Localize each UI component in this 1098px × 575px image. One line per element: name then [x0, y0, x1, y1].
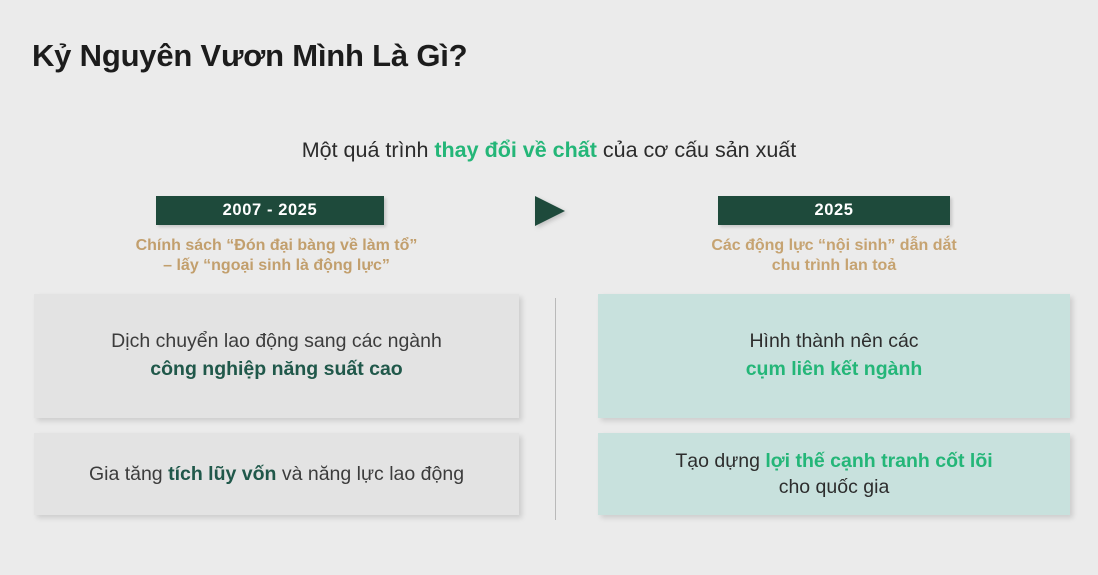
triangle-right-icon	[535, 196, 565, 226]
right-card-2-line-2: cho quốc gia	[779, 474, 890, 500]
right-column-caption: Các động lực “nội sinh” dẫn dắt chu trìn…	[598, 236, 1070, 277]
left-card-2-line-1: Gia tăng tích lũy vốn và năng lực lao độ…	[89, 461, 464, 487]
left-card-1-line-2: công nghiệp năng suất cao	[150, 356, 402, 384]
right-card-1-line-2: cụm liên kết ngành	[746, 356, 923, 384]
list-item[interactable]: Tạo dựng lợi thế cạnh tranh cốt lõi cho …	[598, 433, 1070, 515]
left-card-2-text-before: Gia tăng	[89, 463, 168, 485]
left-era-badge: 2007 - 2025	[156, 196, 384, 225]
page-title: Kỷ Nguyên Vươn Mình Là Gì?	[32, 38, 467, 74]
left-column-caption: Chính sách “Đón đại bàng về làm tổ” – lấ…	[34, 236, 519, 277]
list-item[interactable]: Gia tăng tích lũy vốn và năng lực lao độ…	[34, 433, 519, 515]
slide-canvas: Kỷ Nguyên Vươn Mình Là Gì? Một quá trình…	[0, 0, 1098, 575]
left-column: 2007 - 2025 Chính sách “Đón đại bàng về …	[34, 190, 519, 515]
card-spacer	[34, 418, 519, 433]
left-card-2-text-after: và năng lực lao động	[276, 463, 464, 485]
left-card-list: Dịch chuyển lao động sang các ngành công…	[34, 294, 519, 515]
list-item[interactable]: Hình thành nên các cụm liên kết ngành	[598, 294, 1070, 418]
card-spacer	[598, 418, 1070, 433]
right-column: 2025 Các động lực “nội sinh” dẫn dắt chu…	[598, 190, 1070, 515]
column-divider	[555, 298, 556, 520]
slide-subtitle: Một quá trình thay đổi về chất của cơ cấ…	[0, 138, 1098, 163]
right-card-1-line-1: Hình thành nên các	[749, 328, 918, 356]
right-card-2-text-before: Tạo dựng	[675, 450, 765, 472]
left-card-1-line-1: Dịch chuyển lao động sang các ngành	[111, 328, 442, 356]
subtitle-accent-text: thay đổi về chất	[434, 138, 597, 162]
list-item[interactable]: Dịch chuyển lao động sang các ngành công…	[34, 294, 519, 418]
right-card-list: Hình thành nên các cụm liên kết ngành Tạ…	[598, 294, 1070, 515]
subtitle-text-before: Một quá trình	[302, 138, 435, 162]
right-card-2-text-strong: lợi thế cạnh tranh cốt lõi	[765, 450, 992, 472]
left-card-2-text-strong: tích lũy vốn	[168, 463, 276, 485]
subtitle-text-after: của cơ cấu sản xuất	[597, 138, 796, 162]
right-card-2-line-1: Tạo dựng lợi thế cạnh tranh cốt lõi	[675, 448, 992, 474]
right-era-badge: 2025	[718, 196, 950, 225]
